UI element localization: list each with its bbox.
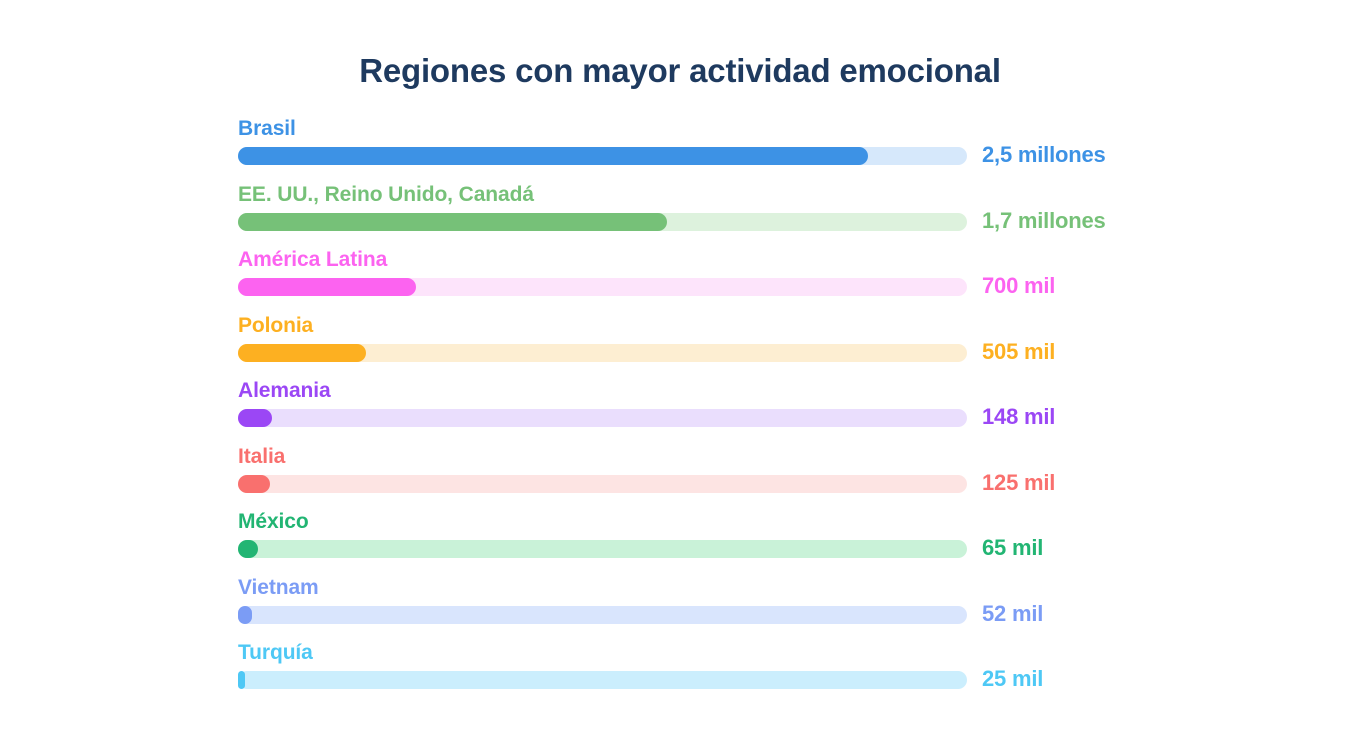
bar-track bbox=[238, 409, 967, 427]
bar-track bbox=[238, 344, 967, 362]
bar-fill bbox=[238, 147, 868, 165]
chart-title: Regiones con mayor actividad emocional bbox=[0, 52, 1360, 90]
bar-fill bbox=[238, 213, 667, 231]
bar-row-label: Italia bbox=[238, 444, 285, 470]
bar-fill bbox=[238, 606, 252, 624]
bar-row: Turquía25 mil bbox=[238, 640, 1238, 706]
bar-track bbox=[238, 475, 967, 493]
bar-row-label: América Latina bbox=[238, 247, 387, 273]
bar-row: Brasil2,5 millones bbox=[238, 116, 1238, 182]
bar-value-label: 1,7 millones bbox=[982, 206, 1106, 236]
bar-fill bbox=[238, 540, 258, 558]
bar-row: Polonia505 mil bbox=[238, 313, 1238, 379]
bar-row-label: México bbox=[238, 509, 309, 535]
bar-value-label: 148 mil bbox=[982, 402, 1055, 432]
bar-value-label: 52 mil bbox=[982, 599, 1043, 629]
bar-row: América Latina700 mil bbox=[238, 247, 1238, 313]
bar-value-label: 25 mil bbox=[982, 664, 1043, 694]
bar-track bbox=[238, 213, 967, 231]
bar-track bbox=[238, 278, 967, 296]
bar-fill bbox=[238, 344, 366, 362]
bar-row-label: EE. UU., Reino Unido, Canadá bbox=[238, 182, 534, 208]
bar-row: México65 mil bbox=[238, 509, 1238, 575]
bar-row-label: Polonia bbox=[238, 313, 313, 339]
bar-row-label: Vietnam bbox=[238, 575, 319, 601]
bar-fill bbox=[238, 409, 272, 427]
bar-row-label: Turquía bbox=[238, 640, 313, 666]
bar-fill bbox=[238, 278, 416, 296]
bar-track bbox=[238, 147, 967, 165]
bar-row: Vietnam52 mil bbox=[238, 575, 1238, 641]
bar-fill bbox=[238, 475, 270, 493]
bar-row-label: Brasil bbox=[238, 116, 296, 142]
bar-row: Italia125 mil bbox=[238, 444, 1238, 510]
bar-value-label: 700 mil bbox=[982, 271, 1055, 301]
bar-value-label: 2,5 millones bbox=[982, 140, 1106, 170]
bar-value-label: 125 mil bbox=[982, 468, 1055, 498]
bar-row: EE. UU., Reino Unido, Canadá1,7 millones bbox=[238, 182, 1238, 248]
bar-track bbox=[238, 606, 967, 624]
bar-value-label: 505 mil bbox=[982, 337, 1055, 367]
bar-row: Alemania148 mil bbox=[238, 378, 1238, 444]
bar-row-label: Alemania bbox=[238, 378, 331, 404]
bar-track bbox=[238, 540, 967, 558]
bar-fill bbox=[238, 671, 245, 689]
chart-container: Regiones con mayor actividad emocional B… bbox=[0, 0, 1360, 755]
bar-rows-list: Brasil2,5 millonesEE. UU., Reino Unido, … bbox=[238, 116, 1238, 706]
bar-value-label: 65 mil bbox=[982, 533, 1043, 563]
bar-track bbox=[238, 671, 967, 689]
